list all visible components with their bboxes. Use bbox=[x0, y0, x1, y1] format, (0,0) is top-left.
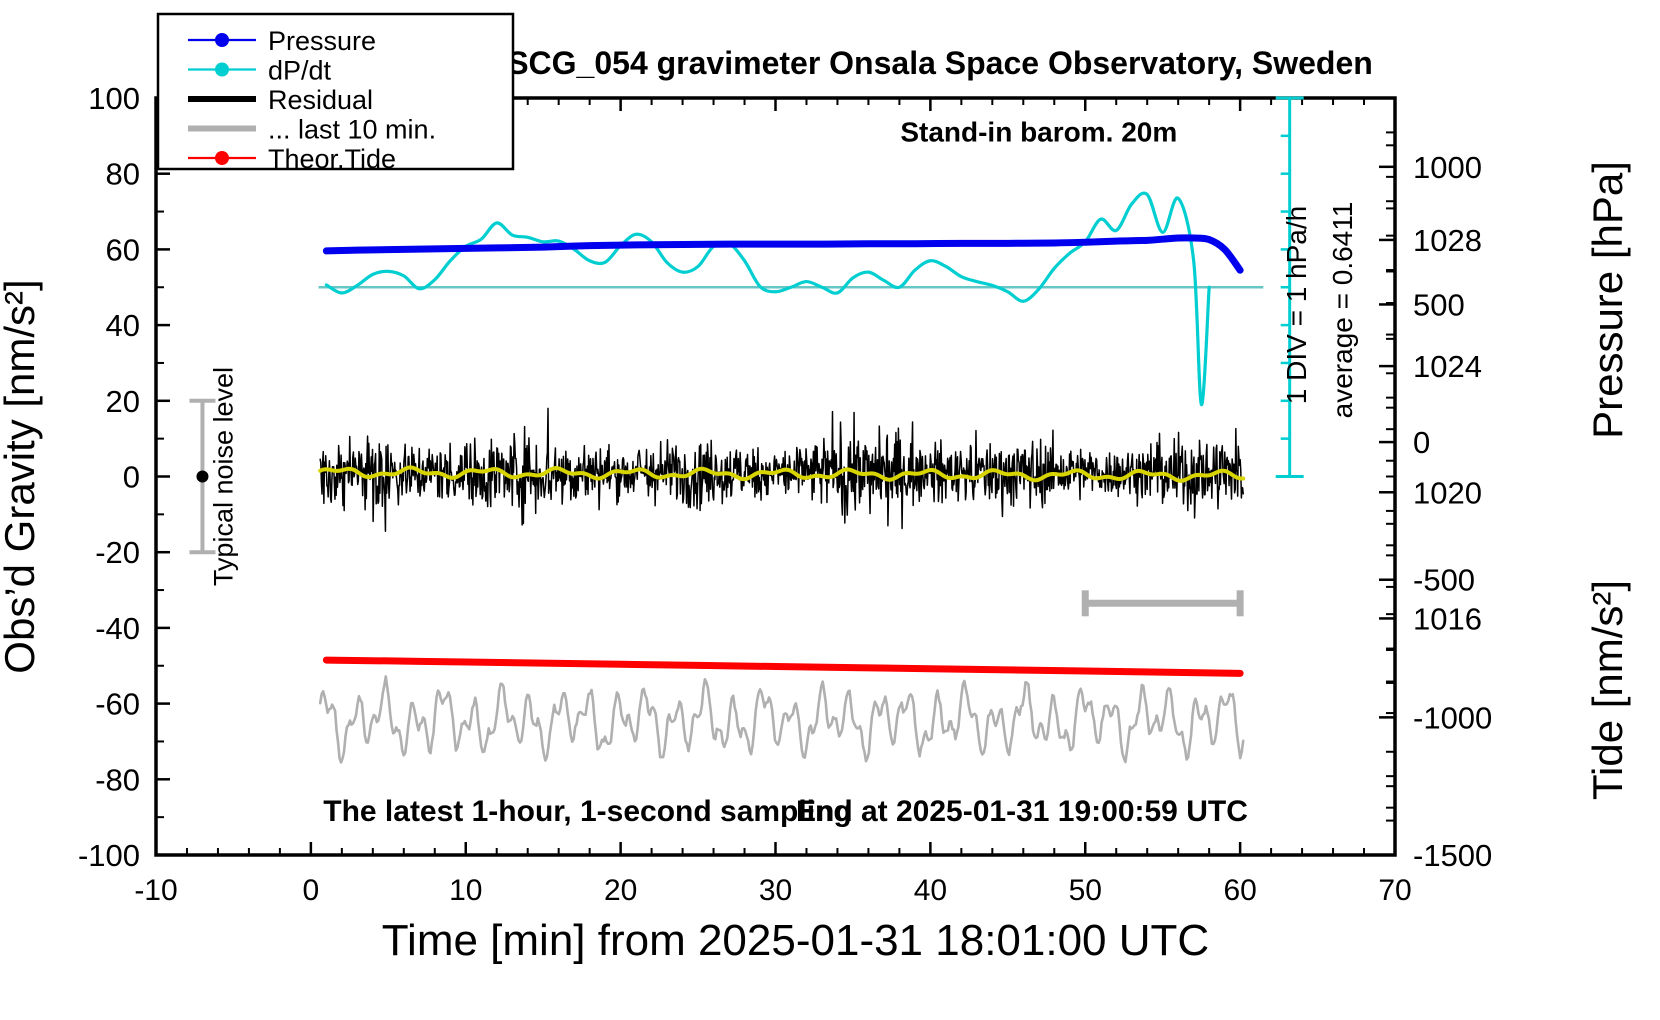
y3-tick-label: 500 bbox=[1413, 287, 1465, 322]
x-tick-label: 0 bbox=[303, 874, 320, 907]
y-tick-label: 0 bbox=[123, 460, 140, 495]
y-tick-label: 40 bbox=[106, 308, 140, 343]
y2-axis-title: Pressure [hPa] bbox=[1584, 161, 1631, 439]
legend-label-4[interactable]: Theor.Tide bbox=[268, 144, 396, 174]
x-tick-label: 60 bbox=[1223, 874, 1256, 907]
sampling-note-label: The latest 1-hour, 1-second sampling bbox=[323, 795, 851, 828]
noise-level-label: Typical noise level bbox=[208, 367, 238, 586]
y-tick-label: 100 bbox=[88, 81, 140, 116]
x-tick-label: 10 bbox=[449, 874, 482, 907]
y3-tick-label: -500 bbox=[1413, 563, 1475, 598]
x-tick-label: 40 bbox=[914, 874, 947, 907]
y-tick-label: -20 bbox=[95, 535, 140, 570]
legend-label-0[interactable]: Pressure bbox=[268, 26, 376, 56]
x-tick-label: -10 bbox=[134, 874, 177, 907]
gravimeter-chart: -10010203040506070-100-80-60-40-20020406… bbox=[0, 0, 1660, 1020]
legend-marker-1 bbox=[215, 63, 229, 77]
x-tick-label: 50 bbox=[1069, 874, 1102, 907]
chart-title: SCG_054 gravimeter Onsala Space Observat… bbox=[507, 45, 1373, 81]
noise-level-center-dot bbox=[196, 471, 208, 483]
y-axis-title: Obs’d Gravity [nm/s²] bbox=[0, 279, 43, 673]
div-scale-label: 1 DIV = 1 hPa/h bbox=[1281, 206, 1312, 404]
chart-root: -10010203040506070-100-80-60-40-20020406… bbox=[0, 0, 1660, 1020]
y3-tick-label: -1500 bbox=[1413, 838, 1492, 873]
x-tick-label: 20 bbox=[604, 874, 637, 907]
stand-in-barom-label: Stand-in barom. 20m bbox=[900, 117, 1177, 148]
y-tick-label: 60 bbox=[106, 232, 140, 267]
y-tick-label: -100 bbox=[78, 838, 140, 873]
series-theor-tide bbox=[326, 660, 1240, 673]
x-tick-label: 30 bbox=[759, 874, 792, 907]
series-last-10-min bbox=[320, 676, 1243, 762]
y-tick-label: -40 bbox=[95, 611, 140, 646]
legend-label-3[interactable]: ... last 10 min. bbox=[268, 115, 436, 145]
y3-tick-label: 0 bbox=[1413, 425, 1430, 460]
series-pressure bbox=[326, 238, 1240, 270]
y-tick-label: 20 bbox=[106, 384, 140, 419]
x-tick-label: 70 bbox=[1378, 874, 1411, 907]
y3-tick-label: -1000 bbox=[1413, 700, 1492, 735]
y3-tick-label: 1000 bbox=[1413, 150, 1482, 185]
y-tick-label: 80 bbox=[106, 157, 140, 192]
y2-tick-label: 1024 bbox=[1413, 349, 1482, 384]
legend-label-2[interactable]: Residual bbox=[268, 85, 373, 115]
end-time-label: End at 2025-01-31 19:00:59 UTC bbox=[796, 795, 1248, 828]
legend-marker-4 bbox=[215, 151, 229, 165]
y-tick-label: -80 bbox=[95, 762, 140, 797]
x-axis-title: Time [min] from 2025-01-31 18:01:00 UTC bbox=[382, 916, 1209, 965]
y2-tick-label: 1028 bbox=[1413, 223, 1482, 258]
legend-marker-0 bbox=[215, 33, 229, 47]
y2-tick-label: 1020 bbox=[1413, 475, 1482, 510]
y2-tick-label: 1016 bbox=[1413, 601, 1482, 636]
y3-axis-title: Tide [nm/s²] bbox=[1584, 580, 1631, 800]
y-tick-label: -60 bbox=[95, 687, 140, 722]
series-dpdt bbox=[326, 193, 1209, 405]
legend-label-1[interactable]: dP/dt bbox=[268, 56, 332, 86]
average-label: average = 0.6411 bbox=[1327, 202, 1358, 419]
